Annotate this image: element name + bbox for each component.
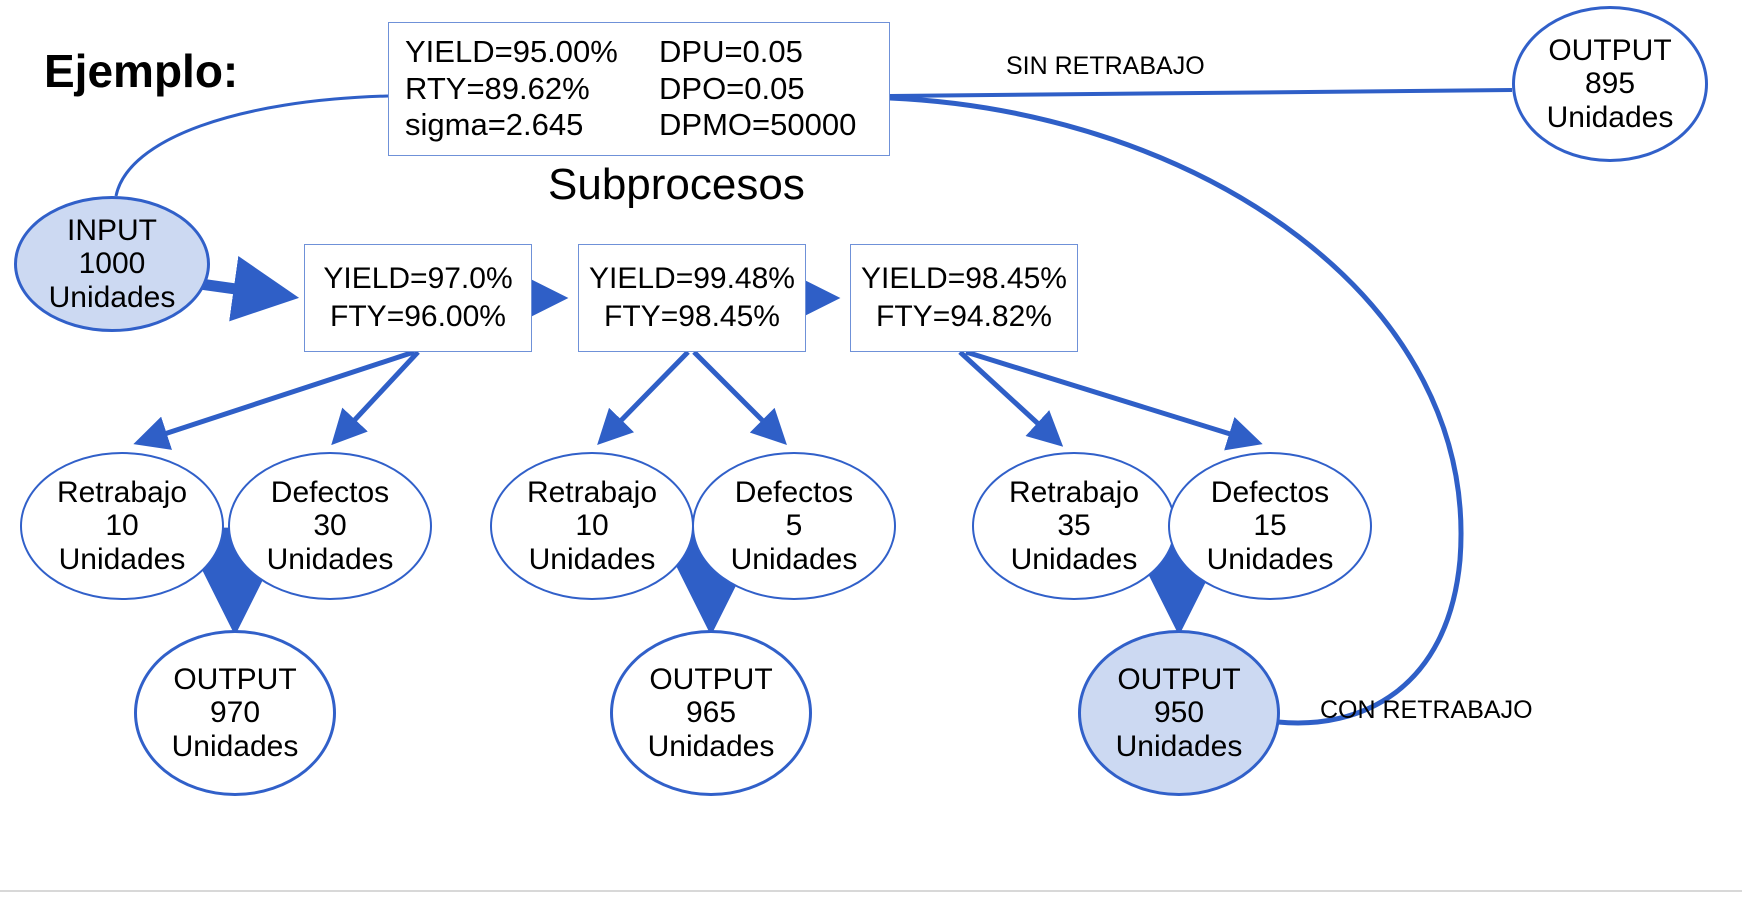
output-3-unit: Unidades	[1116, 730, 1243, 764]
defects-2-label: Defectos	[735, 476, 853, 510]
input-label: INPUT	[67, 214, 157, 248]
metric-dpmo: DPMO=50000	[645, 108, 889, 143]
page-title: Ejemplo:	[44, 44, 238, 98]
output-2-unit: Unidades	[648, 730, 775, 764]
process-metrics-box: YIELD=95.00% RTY=89.62% sigma=2.645 DPU=…	[388, 22, 890, 156]
subprocess-box-1: YIELD=97.0% FTY=96.00%	[304, 244, 532, 352]
defects-node-2: Defectos 5 Unidades	[692, 452, 896, 600]
output-final-unit: Unidades	[1547, 101, 1674, 135]
metrics-left-column: YIELD=95.00% RTY=89.62% sigma=2.645	[401, 35, 645, 143]
rework-3-value: 35	[1057, 509, 1090, 543]
output-1-label: OUTPUT	[173, 663, 296, 697]
rework-node-2: Retrabajo 10 Unidades	[490, 452, 694, 600]
metric-yield: YIELD=95.00%	[401, 35, 645, 70]
defects-3-value: 15	[1253, 509, 1286, 543]
edge-label-sin-retrabajo: SIN RETRABAJO	[1006, 52, 1205, 81]
subprocess-2-fty: FTY=98.45%	[604, 300, 780, 334]
slide-bottom-divider	[0, 890, 1742, 892]
defects-3-unit: Unidades	[1207, 543, 1334, 577]
input-value: 1000	[79, 247, 146, 281]
subprocess-3-yield: YIELD=98.45%	[861, 262, 1067, 296]
output-final-value: 895	[1585, 67, 1635, 101]
rework-2-value: 10	[575, 509, 608, 543]
rework-2-unit: Unidades	[529, 543, 656, 577]
metric-dpo: DPO=0.05	[645, 72, 889, 107]
input-node: INPUT 1000 Unidades	[14, 196, 210, 332]
subprocess-3-fty: FTY=94.82%	[876, 300, 1052, 334]
rework-1-value: 10	[105, 509, 138, 543]
output-node-2: OUTPUT 965 Unidades	[610, 630, 812, 796]
metric-sigma: sigma=2.645	[401, 108, 645, 143]
connector-input-to-stats	[116, 96, 388, 196]
rework-1-unit: Unidades	[59, 543, 186, 577]
rework-2-label: Retrabajo	[527, 476, 657, 510]
output-2-value: 965	[686, 696, 736, 730]
connector-sub2-to-rework2	[602, 352, 688, 440]
output-3-value: 950	[1154, 696, 1204, 730]
connector-sub2-to-defects2	[694, 352, 782, 440]
rework-node-1: Retrabajo 10 Unidades	[20, 452, 224, 600]
input-unit: Unidades	[49, 281, 176, 315]
output-final-label: OUTPUT	[1548, 34, 1671, 68]
metrics-right-column: DPU=0.05 DPO=0.05 DPMO=50000	[645, 35, 889, 143]
subprocess-box-3: YIELD=98.45% FTY=94.82%	[850, 244, 1078, 352]
output-1-unit: Unidades	[172, 730, 299, 764]
defects-node-1: Defectos 30 Unidades	[228, 452, 432, 600]
defects-1-unit: Unidades	[267, 543, 394, 577]
output-1-value: 970	[210, 696, 260, 730]
defects-1-label: Defectos	[271, 476, 389, 510]
defects-2-unit: Unidades	[731, 543, 858, 577]
defects-2-value: 5	[786, 509, 803, 543]
metric-dpu: DPU=0.05	[645, 35, 889, 70]
output-node-3: OUTPUT 950 Unidades	[1078, 630, 1280, 796]
subprocess-box-2: YIELD=99.48% FTY=98.45%	[578, 244, 806, 352]
defects-node-3: Defectos 15 Unidades	[1168, 452, 1372, 600]
subprocess-1-fty: FTY=96.00%	[330, 300, 506, 334]
metric-rty: RTY=89.62%	[401, 72, 645, 107]
diagram-canvas: Ejemplo: Subprocesos SIN RETRABAJO CON R…	[0, 0, 1742, 898]
subprocess-2-yield: YIELD=99.48%	[589, 262, 795, 296]
defects-1-value: 30	[313, 509, 346, 543]
output-2-label: OUTPUT	[649, 663, 772, 697]
defects-3-label: Defectos	[1211, 476, 1329, 510]
subprocess-1-yield: YIELD=97.0%	[323, 262, 512, 296]
rework-3-label: Retrabajo	[1009, 476, 1139, 510]
subprocess-heading: Subprocesos	[548, 160, 805, 210]
rework-1-label: Retrabajo	[57, 476, 187, 510]
connector-stats-to-output-top	[890, 90, 1512, 96]
rework-3-unit: Unidades	[1011, 543, 1138, 577]
output-final-node: OUTPUT 895 Unidades	[1512, 6, 1708, 162]
output-3-label: OUTPUT	[1117, 663, 1240, 697]
output-node-1: OUTPUT 970 Unidades	[134, 630, 336, 796]
rework-node-3: Retrabajo 35 Unidades	[972, 452, 1176, 600]
edge-label-con-retrabajo: CON RETRABAJO	[1320, 696, 1533, 725]
